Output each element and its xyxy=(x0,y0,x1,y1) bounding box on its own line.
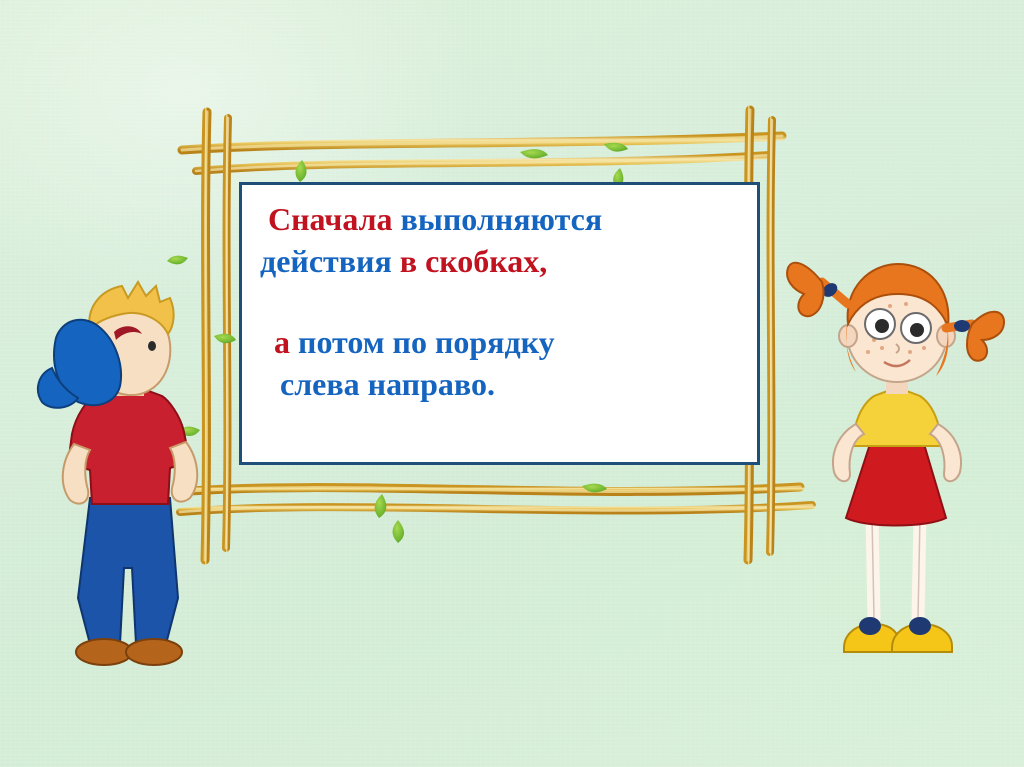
line1-red-segment: Сначала xyxy=(268,201,401,237)
boy-arm-left xyxy=(63,444,90,504)
text-panel: Сначала выполняются действия в скобках, … xyxy=(239,182,760,465)
girl-character xyxy=(786,248,1006,678)
girl-skirt xyxy=(846,444,946,526)
girl-hairtie-right xyxy=(954,320,970,332)
girl-bow-left xyxy=(787,263,823,316)
text-line-2: действия в скобках, xyxy=(260,241,741,283)
boy-shoe-left xyxy=(76,639,132,665)
girl-shoe-accent-right xyxy=(909,617,931,635)
text-line-1: Сначала выполняются xyxy=(268,199,741,241)
line2-blue-segment: действия xyxy=(260,243,400,279)
girl-top xyxy=(854,390,941,446)
girl-arm-right xyxy=(930,424,961,481)
boy-jeans xyxy=(78,498,178,644)
line3-red-segment: а xyxy=(274,324,298,360)
boy-arm-right xyxy=(170,442,197,502)
line4-blue-segment: слева направо. xyxy=(280,366,495,402)
boy-eye xyxy=(148,341,156,351)
frame-rail-bottom xyxy=(176,487,812,512)
text-line-3: а потом по порядку xyxy=(274,322,741,364)
line3-blue-segment: потом по порядку xyxy=(298,324,555,360)
frame-rail-top xyxy=(182,136,782,171)
line1-blue-segment: выполняются xyxy=(401,201,603,237)
line2-red-segment: в скобках, xyxy=(400,243,547,279)
girl-shoe-accent-left xyxy=(859,617,881,635)
text-line-4: слева направо. xyxy=(280,364,741,406)
girl-bow-right xyxy=(967,312,1004,361)
girl-arm-left xyxy=(833,424,864,481)
slide-canvas: Сначала выполняются действия в скобках, … xyxy=(0,0,1024,767)
boy-character xyxy=(28,268,228,678)
boy-shoe-right xyxy=(126,639,182,665)
girl-ear-left xyxy=(839,325,857,347)
